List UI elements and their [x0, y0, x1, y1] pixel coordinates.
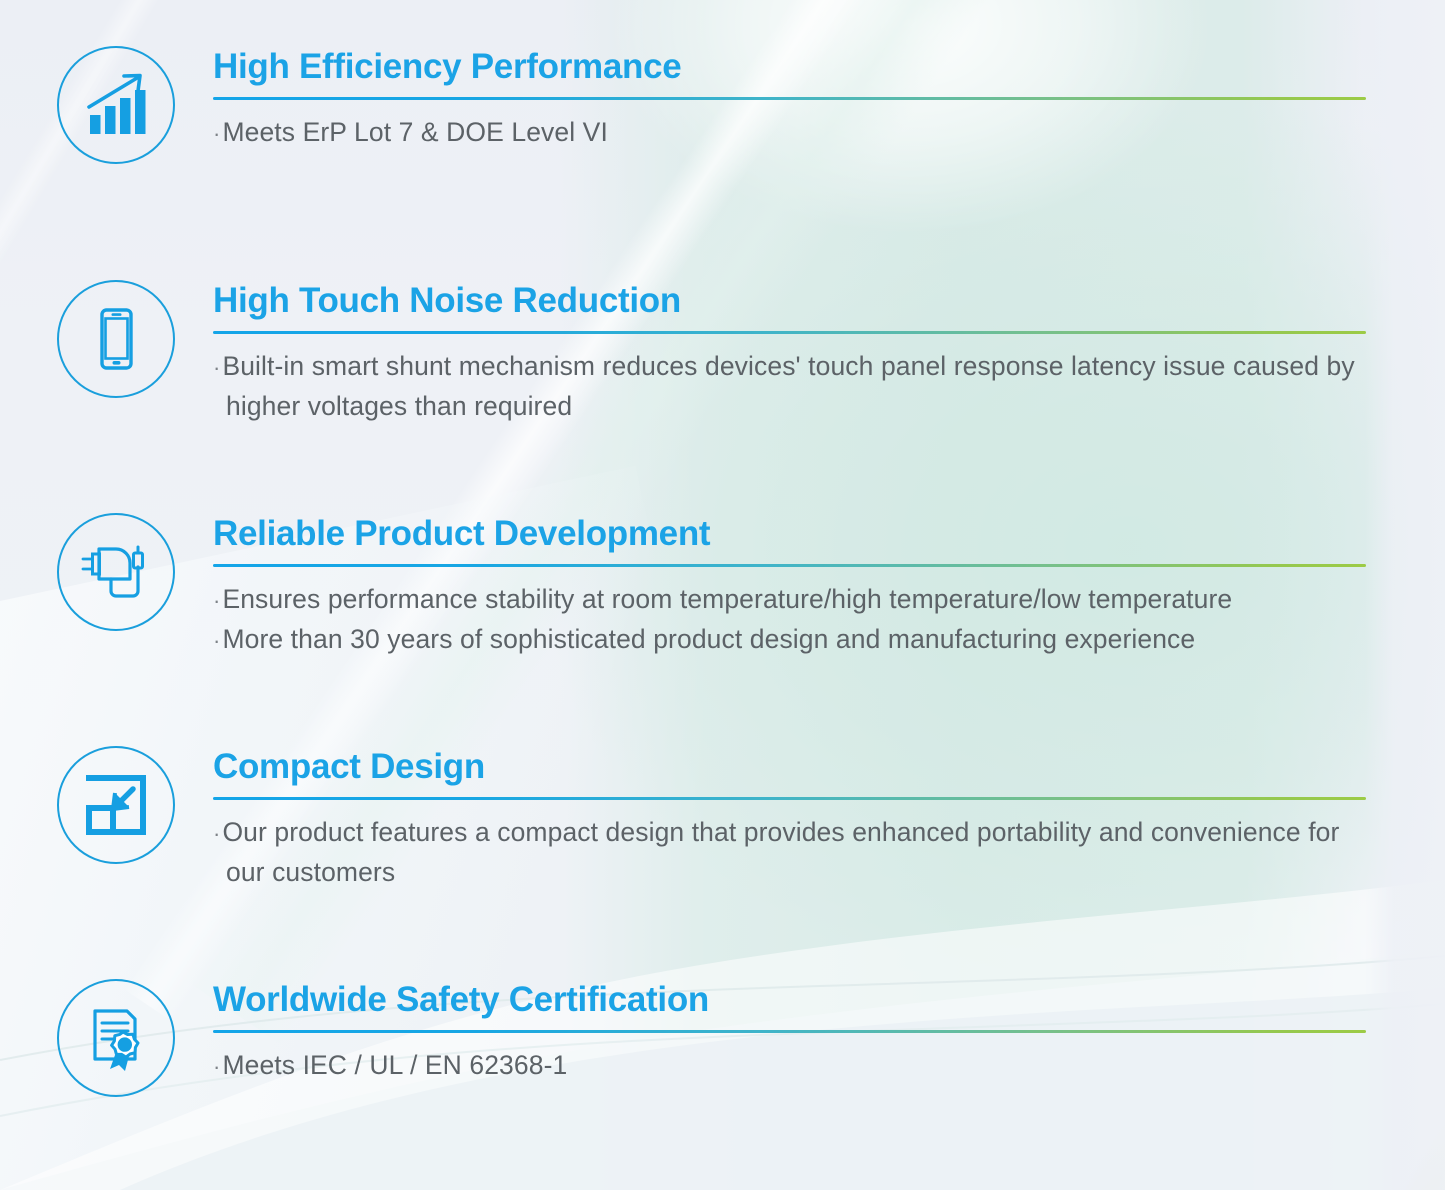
feature-item-compact-design: Compact Design ·Our product features a c…: [0, 746, 1445, 892]
feature-icon-wrap: [54, 46, 178, 164]
feature-divider: [213, 1030, 1366, 1033]
feature-bullet: ·Our product features a compact design t…: [213, 813, 1366, 892]
feature-text-column: High Efficiency Performance ·Meets ErP L…: [178, 46, 1445, 153]
feature-title: Worldwide Safety Certification: [213, 979, 1366, 1021]
power-adapter-icon: [57, 513, 175, 631]
feature-icon-wrap: [54, 746, 178, 864]
feature-bullet: ·Meets ErP Lot 7 & DOE Level VI: [213, 113, 1366, 153]
feature-divider: [213, 97, 1366, 100]
certificate-seal-icon: [57, 979, 175, 1097]
feature-bullet-text: More than 30 years of sophisticated prod…: [222, 624, 1195, 654]
feature-bullet-text: Meets ErP Lot 7 & DOE Level VI: [222, 117, 607, 147]
feature-bullet: ·Meets IEC / UL / EN 62368-1: [213, 1046, 1366, 1086]
smartphone-icon: [57, 280, 175, 398]
feature-bullet-text: Meets IEC / UL / EN 62368-1: [222, 1050, 567, 1080]
feature-item-high-touch-noise-reduction: High Touch Noise Reduction ·Built-in sma…: [0, 280, 1445, 426]
feature-bullet-text: Ensures performance stability at room te…: [222, 584, 1232, 614]
feature-divider: [213, 564, 1366, 567]
feature-bullet: ·Built-in smart shunt mechanism reduces …: [213, 347, 1366, 426]
feature-bullet-text: Built-in smart shunt mechanism reduces d…: [222, 351, 1354, 421]
feature-title: Reliable Product Development: [213, 513, 1366, 555]
compact-resize-icon: [57, 746, 175, 864]
bar-chart-growth-icon: [57, 46, 175, 164]
feature-item-worldwide-safety-certification: Worldwide Safety Certification ·Meets IE…: [0, 979, 1445, 1097]
feature-title: High Efficiency Performance: [213, 46, 1366, 88]
feature-bullet: ·Ensures performance stability at room t…: [213, 580, 1366, 620]
feature-title: Compact Design: [213, 746, 1366, 788]
feature-icon-wrap: [54, 513, 178, 631]
feature-bullet-text: Our product features a compact design th…: [222, 817, 1339, 887]
feature-text-column: Worldwide Safety Certification ·Meets IE…: [178, 979, 1445, 1086]
feature-icon-wrap: [54, 280, 178, 398]
feature-item-high-efficiency-performance: High Efficiency Performance ·Meets ErP L…: [0, 46, 1445, 164]
feature-text-column: Compact Design ·Our product features a c…: [178, 746, 1445, 892]
feature-item-reliable-product-development: Reliable Product Development ·Ensures pe…: [0, 513, 1445, 660]
feature-highlights-page: High Efficiency Performance ·Meets ErP L…: [0, 0, 1445, 1190]
feature-icon-wrap: [54, 979, 178, 1097]
feature-text-column: Reliable Product Development ·Ensures pe…: [178, 513, 1445, 660]
feature-bullet: ·More than 30 years of sophisticated pro…: [213, 620, 1366, 660]
feature-divider: [213, 797, 1366, 800]
feature-title: High Touch Noise Reduction: [213, 280, 1366, 322]
feature-divider: [213, 331, 1366, 334]
feature-text-column: High Touch Noise Reduction ·Built-in sma…: [178, 280, 1445, 426]
